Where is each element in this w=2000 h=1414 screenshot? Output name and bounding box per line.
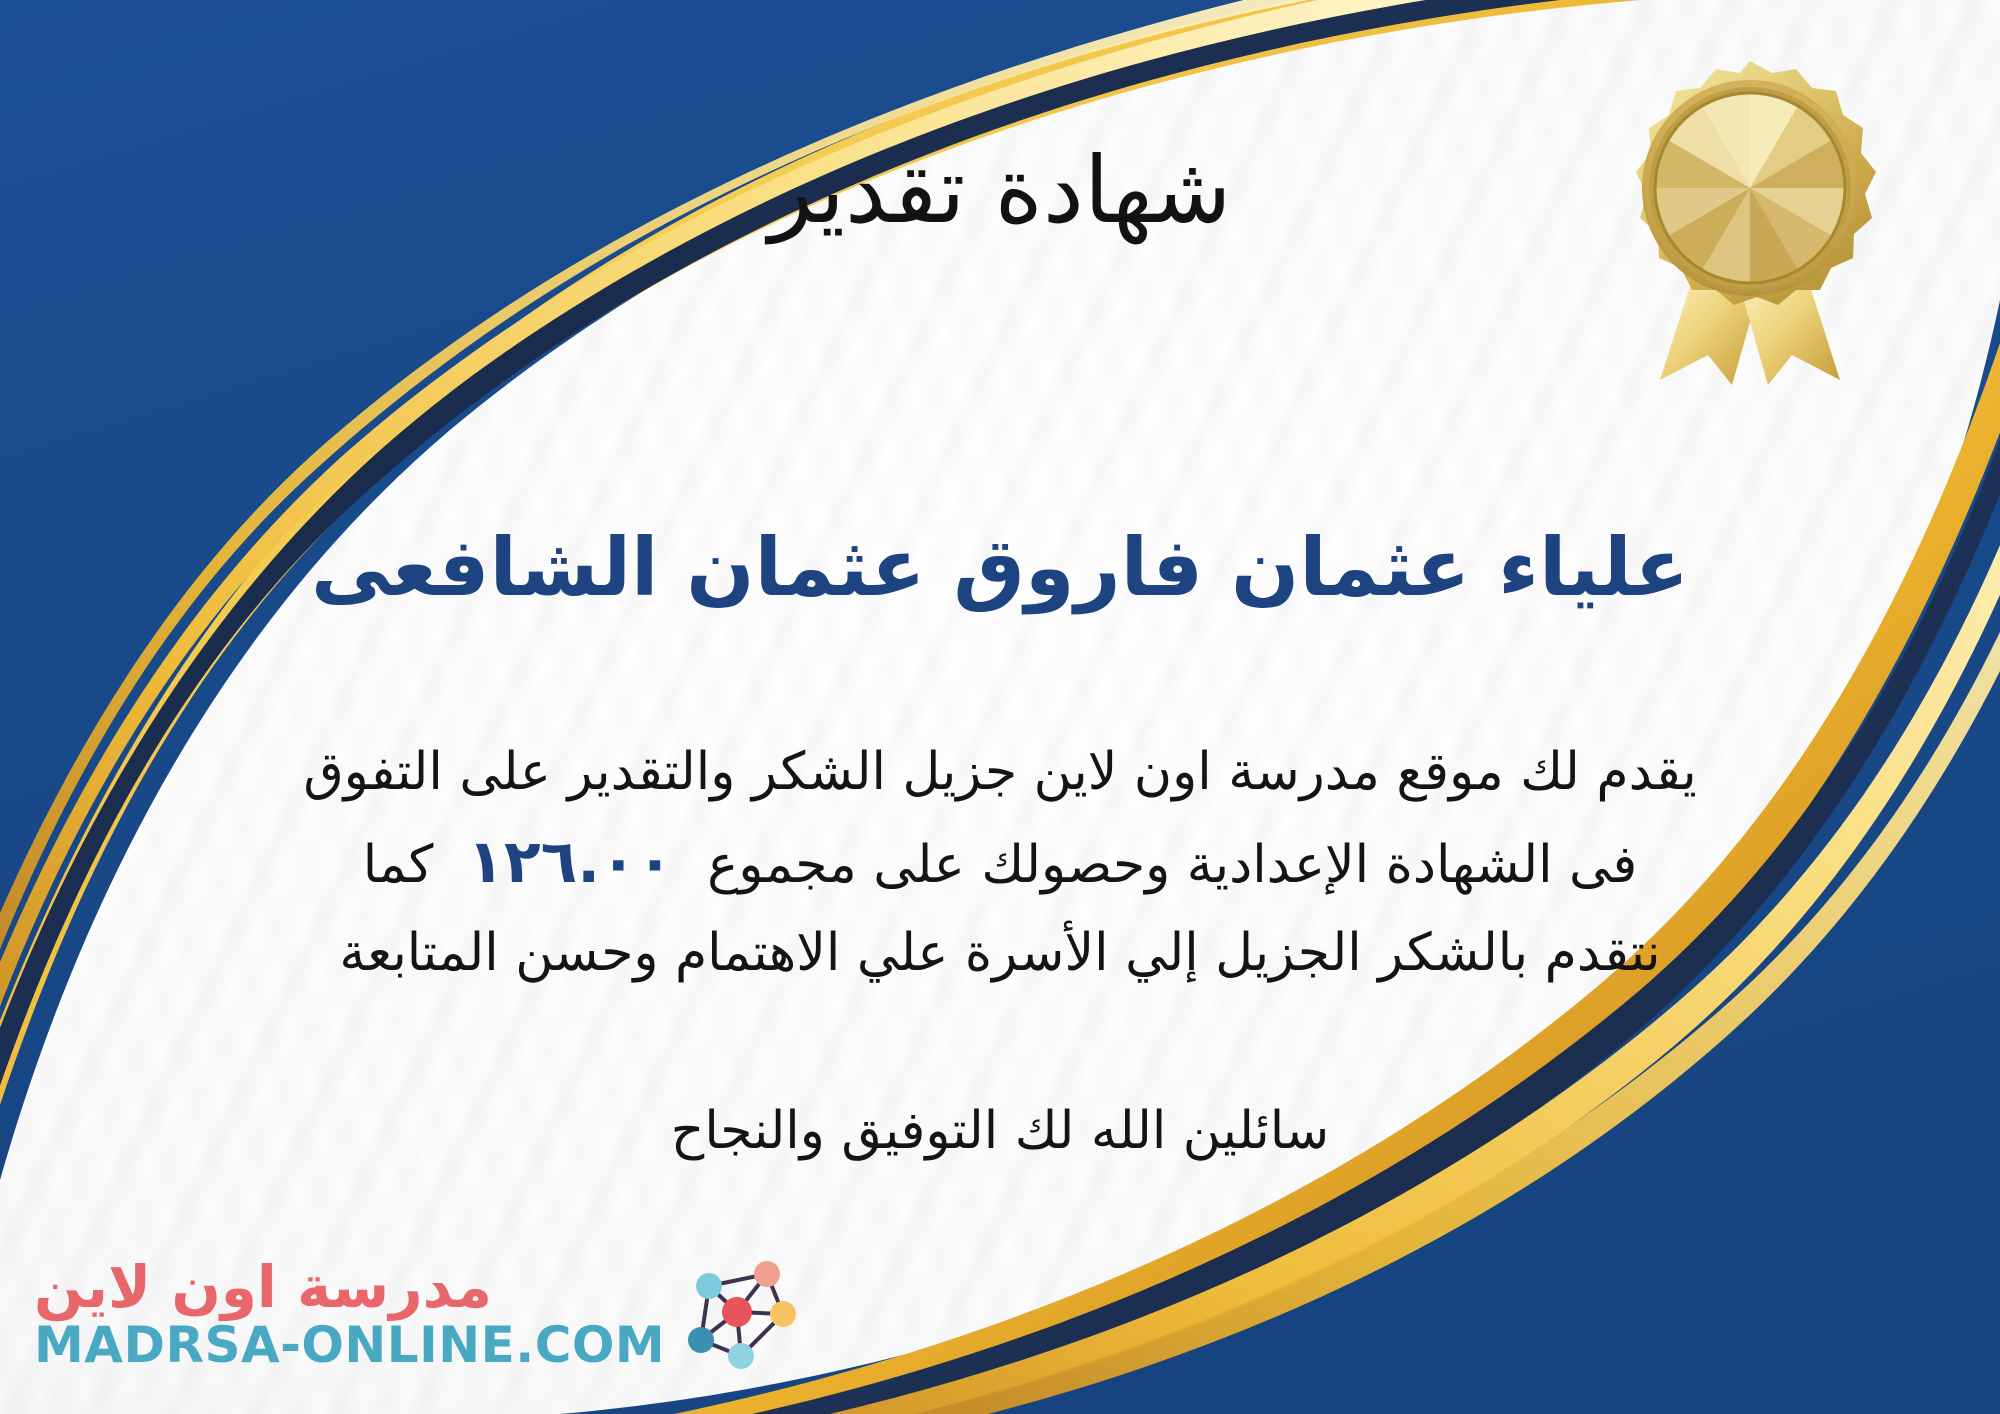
recipient-name: علياء عثمان فاروق عثمان الشافعى <box>0 520 2000 616</box>
network-node-2 <box>696 1273 722 1299</box>
brand-website: MADRSA-ONLINE.COM <box>34 1318 665 1373</box>
certificate-body: يقدم لك موقع مدرسة اون لاين جزيل الشكر و… <box>0 730 2000 996</box>
body-line-3: نتقدم بالشكر الجزيل إلي الأسرة علي الاهت… <box>70 911 1930 995</box>
network-node-1 <box>754 1261 780 1287</box>
body-line-2-prefix: فى الشهادة الإعدادية وحصولك على مجموع <box>707 835 1637 895</box>
brand-logo[interactable]: مدرسة اون لاين MADRSA-ONLINE.COM <box>34 1252 801 1378</box>
body-line-2-suffix: كما <box>363 835 434 895</box>
certificate-canvas: شهادة تقدير علياء عثمان فاروق عثمان الشا… <box>0 0 2000 1414</box>
brand-arabic-name: مدرسة اون لاين <box>34 1257 492 1318</box>
score-value: ١٢٦.٠٠ <box>433 827 707 897</box>
certificate-title: شهادة تقدير <box>0 140 2000 241</box>
body-line-2: فى الشهادة الإعدادية وحصولك على مجموع١٢٦… <box>70 814 1930 911</box>
brand-text: مدرسة اون لاين MADRSA-ONLINE.COM <box>34 1257 665 1373</box>
network-node-5 <box>688 1327 714 1353</box>
network-node-6 <box>728 1343 754 1369</box>
closing-line: سائلين الله لك التوفيق والنجاح <box>0 1095 2000 1168</box>
body-line-1: يقدم لك موقع مدرسة اون لاين جزيل الشكر و… <box>70 730 1930 814</box>
network-node-3 <box>722 1297 752 1327</box>
network-node-4 <box>770 1301 796 1327</box>
network-nodes-icon <box>675 1252 801 1378</box>
